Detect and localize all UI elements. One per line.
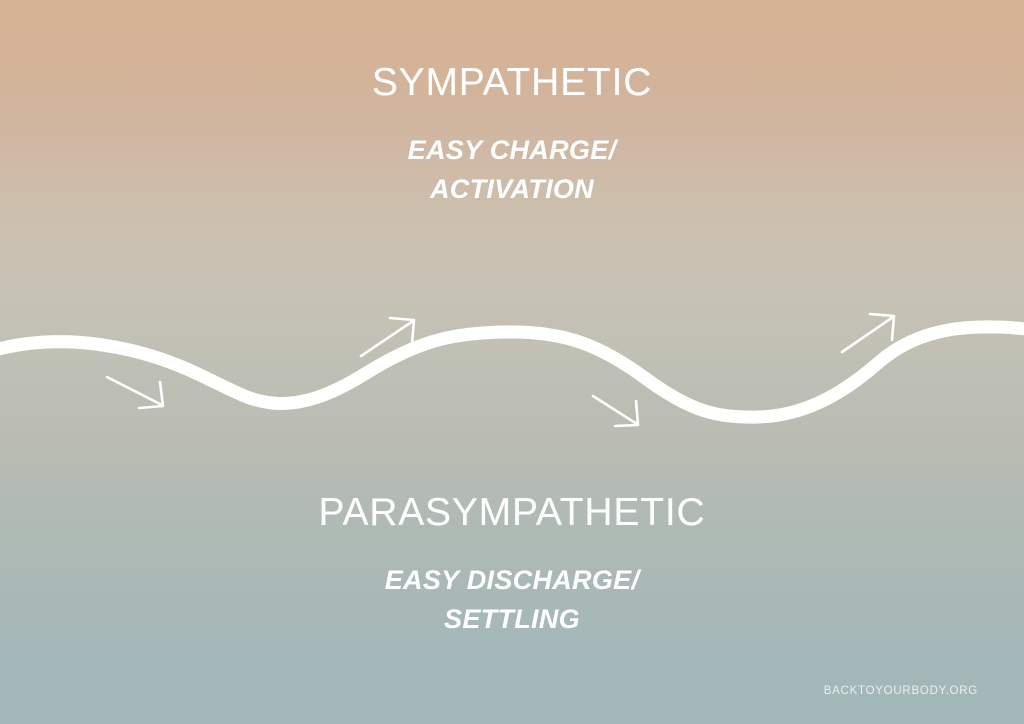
parasympathetic-title: PARASYMPATHETIC — [0, 492, 1024, 535]
arrow-up-right-2 — [842, 314, 894, 352]
arrow-down-right-2 — [593, 396, 638, 426]
arrow-down-right-1 — [107, 377, 163, 408]
source-credit: BACKTOYOURBODY.ORG — [824, 685, 978, 697]
sympathetic-subtitle-line1: EASY CHARGE/ — [408, 135, 617, 165]
sympathetic-subtitle-line2: ACTIVATION — [0, 170, 1024, 209]
poster-canvas: SYMPATHETIC EASY CHARGE/ ACTIVATION PARA… — [0, 0, 1024, 724]
nervous-system-wave-path — [0, 327, 1024, 417]
arrow-up-right-1 — [361, 318, 414, 356]
parasympathetic-subtitle-line1: EASY DISCHARGE/ — [385, 565, 640, 595]
parasympathetic-zone: PARASYMPATHETIC EASY DISCHARGE/ SETTLING — [0, 492, 1024, 639]
parasympathetic-subtitle: EASY DISCHARGE/ SETTLING — [0, 561, 1024, 639]
sympathetic-subtitle: EASY CHARGE/ ACTIVATION — [0, 131, 1024, 209]
sympathetic-title: SYMPATHETIC — [0, 62, 1024, 105]
parasympathetic-subtitle-line2: SETTLING — [0, 600, 1024, 639]
sympathetic-zone: SYMPATHETIC EASY CHARGE/ ACTIVATION — [0, 62, 1024, 209]
